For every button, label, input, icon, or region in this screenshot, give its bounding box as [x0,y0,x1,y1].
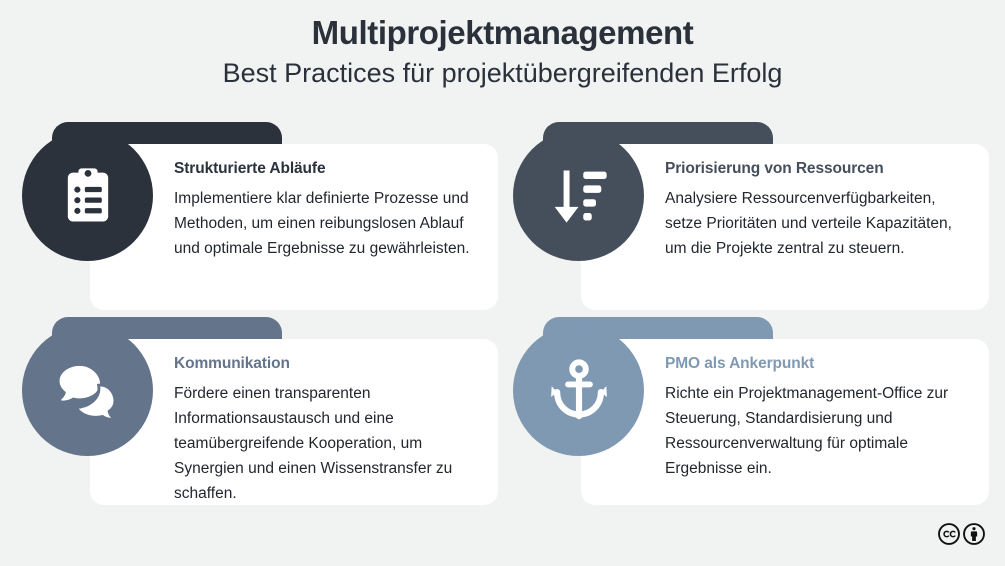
clipboard-list-icon [54,162,122,230]
card-title: PMO als Ankerpunkt [665,355,967,374]
card-icon-circle [22,130,153,261]
attribution-icon [963,523,985,550]
card-title: Strukturierte Abläufe [174,160,476,179]
card-icon-circle [513,130,644,261]
card-icon-circle [513,325,644,456]
card-title: Kommunikation [174,355,476,374]
card-panel: Kommunikation Fördere einen transparente… [90,339,498,505]
card-panel: Strukturierte Abläufe Implementiere klar… [90,144,498,310]
card-body: Richte ein Projektmanagement-Office zur … [665,374,967,481]
speech-bubbles-icon [53,356,123,426]
card-strukturierte-ablaeufe[interactable]: Strukturierte Abläufe Implementiere klar… [22,122,498,310]
anchor-icon [544,356,614,426]
page-subtitle: Best Practices für projektübergreifenden… [0,52,1005,89]
card-priorisierung-von-ressourcen[interactable]: Priorisierung von Ressourcen Analysiere … [513,122,989,310]
card-pmo-als-ankerpunkt[interactable]: PMO als Ankerpunkt Richte ein Projektman… [513,317,989,505]
page-header: Multiprojektmanagement Best Practices fü… [0,0,1005,90]
card-body: Implementiere klar definierte Prozesse u… [174,179,476,261]
card-title: Priorisierung von Ressourcen [665,160,967,179]
card-panel: Priorisierung von Ressourcen Analysiere … [581,144,989,310]
cards-grid: Strukturierte Abläufe Implementiere klar… [0,118,1005,518]
card-body: Fördere einen transparenten Informations… [174,374,476,507]
card-body: Analysiere Ressourcenverfügbarkeiten, se… [665,179,967,261]
card-panel: PMO als Ankerpunkt Richte ein Projektman… [581,339,989,505]
card-icon-circle [22,325,153,456]
card-kommunikation[interactable]: Kommunikation Fördere einen transparente… [22,317,498,505]
creative-commons-icon [938,523,960,550]
page-title: Multiprojektmanagement [0,0,1005,52]
sort-descending-icon [545,162,613,230]
creative-commons-badge [938,523,985,550]
